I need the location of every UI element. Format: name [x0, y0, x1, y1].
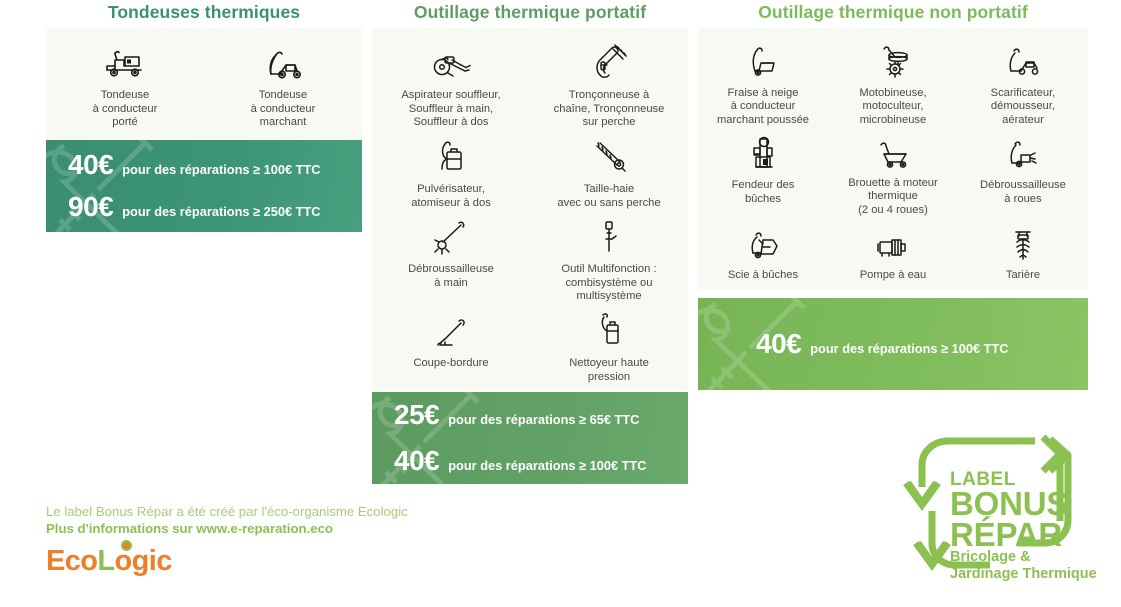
- hedge-trimmer-icon: [588, 131, 630, 177]
- leaf-blower-icon: [428, 37, 474, 83]
- list-item: Aspirateur souffleur, Souffleur à main, …: [372, 37, 530, 131]
- ecologic-logo-dot-icon: [121, 540, 132, 551]
- ecologic-logo-l: L: [97, 545, 114, 577]
- list-item-label: Pompe à eau: [860, 269, 927, 283]
- bonus-repar-logo: LABEL BONUS RÉPAR Bricolage & Jardinage …: [900, 425, 1100, 590]
- price-amount: 25€: [394, 401, 439, 429]
- walk-behind-mower-icon: [261, 37, 305, 83]
- list-item-label: Motobineuse, motoculteur, microbineuse: [859, 87, 926, 128]
- list-item-label: Scie à bûches: [728, 269, 798, 283]
- pressure-washer-icon: [592, 305, 626, 351]
- ecologic-logo-eco: Eco: [46, 545, 97, 577]
- auger-icon: [1008, 217, 1038, 263]
- list-item-label: Tronçonneuse à chaîne, Tronçonneuse sur …: [554, 89, 665, 130]
- list-item-label: Tondeuse à conducteur marchant: [251, 89, 316, 130]
- price-row: 40€ pour des réparations ≥ 100€ TTC: [68, 151, 362, 179]
- column-title-portatif: Outillage thermique portatif: [372, 2, 688, 23]
- panel-tondeuses: Tondeuse à conducteur porté: [46, 28, 362, 140]
- list-item: Outil Multifonction : combisystème ou mu…: [530, 211, 688, 305]
- multi-tool-icon: [595, 211, 623, 257]
- price-amount: 90€: [68, 193, 113, 221]
- price-banner-tondeuses: 40€ pour des réparations ≥ 100€ TTC 90€ …: [46, 140, 362, 232]
- price-condition: pour des réparations ≥ 100€ TTC: [448, 460, 646, 473]
- list-item-label: Fendeur des bûches: [732, 179, 795, 206]
- column-title-non-portatif: Outillage thermique non portatif: [698, 2, 1088, 23]
- list-item-label: Pulvérisateur, atomiseur à dos: [411, 183, 491, 210]
- bonus-logo-sub1: Bricolage &: [950, 549, 1031, 565]
- list-item-label: Tondeuse à conducteur porté: [93, 89, 158, 130]
- icon-grid-non-portatif: Fraise à neige à conducteur marchant pou…: [698, 28, 1088, 291]
- panel-non-portatif: Fraise à neige à conducteur marchant pou…: [698, 28, 1088, 290]
- list-item-label: Coupe-bordure: [413, 357, 488, 371]
- icon-grid-portatif: Aspirateur souffleur, Souffleur à main, …: [372, 28, 688, 385]
- panel-portatif: Aspirateur souffleur, Souffleur à main, …: [372, 28, 688, 390]
- list-item-label: Scarificateur, démousseur, aérateur: [991, 87, 1056, 128]
- price-rows: 40€ pour des réparations ≥ 100€ TTC 90€ …: [46, 140, 362, 232]
- list-item: Tarière: [958, 217, 1088, 291]
- footer-credit-line: Le label Bonus Répar a été créé par l'éc…: [46, 504, 408, 519]
- list-item: Motobineuse, motoculteur, microbineuse: [828, 37, 958, 127]
- price-amount: 40€: [68, 151, 113, 179]
- list-item: Débroussailleuse à roues: [958, 127, 1088, 217]
- list-item-label: Outil Multifonction : combisystème ou mu…: [561, 263, 656, 304]
- price-rows: 40€ pour des réparations ≥ 100€ TTC: [698, 298, 1088, 390]
- price-row: 90€ pour des réparations ≥ 250€ TTC: [68, 193, 362, 221]
- log-saw-icon: [743, 217, 783, 263]
- rotary-tiller-icon: [873, 37, 913, 81]
- list-item: Tondeuse à conducteur marchant: [204, 37, 362, 130]
- price-condition: pour des réparations ≥ 100€ TTC: [122, 164, 320, 177]
- price-banner-non-portatif: 40€ pour des réparations ≥ 100€ TTC: [698, 298, 1088, 390]
- list-item: Débroussailleuse à main: [372, 211, 530, 305]
- list-item: Fraise à neige à conducteur marchant pou…: [698, 37, 828, 127]
- price-banner-portatif: 25€ pour des réparations ≥ 65€ TTC 40€ p…: [372, 392, 688, 484]
- powered-wheelbarrow-icon: [872, 127, 914, 171]
- list-item-label: Taille-haie avec ou sans perche: [557, 183, 660, 210]
- list-item-label: Aspirateur souffleur, Souffleur à main, …: [401, 89, 500, 130]
- backpack-sprayer-icon: [431, 131, 471, 177]
- list-item: Fendeur des bûches: [698, 127, 828, 217]
- ecologic-logo: EcoLogic: [46, 547, 172, 576]
- price-amount: 40€: [394, 447, 439, 475]
- log-splitter-icon: [744, 127, 782, 173]
- list-item: Pulvérisateur, atomiseur à dos: [372, 131, 530, 211]
- list-item: Scarificateur, démousseur, aérateur: [958, 37, 1088, 127]
- price-condition: pour des réparations ≥ 250€ TTC: [122, 206, 320, 219]
- list-item: Brouette à moteur thermique (2 ou 4 roue…: [828, 127, 958, 217]
- list-item-label: Brouette à moteur thermique (2 ou 4 roue…: [848, 177, 938, 218]
- ride-on-mower-icon: [101, 37, 149, 83]
- list-item-label: Débroussailleuse à main: [408, 263, 494, 290]
- price-row: 25€ pour des réparations ≥ 65€ TTC: [394, 401, 688, 429]
- list-item-label: Fraise à neige à conducteur marchant pou…: [717, 87, 809, 128]
- handheld-brushcutter-icon: [431, 211, 471, 257]
- edge-trimmer-icon: [428, 305, 474, 351]
- list-item: Tronçonneuse à chaîne, Tronçonneuse sur …: [530, 37, 688, 131]
- list-item: Nettoyeur haute pression: [530, 305, 688, 385]
- list-item: Tondeuse à conducteur porté: [46, 37, 204, 130]
- water-pump-icon: [872, 217, 914, 263]
- list-item: Coupe-bordure: [372, 305, 530, 385]
- list-item-label: Débroussailleuse à roues: [980, 179, 1066, 206]
- list-item: Scie à bûches: [698, 217, 828, 291]
- infographic-page: Tondeuses thermiques: [0, 0, 1121, 607]
- scarifier-icon: [1001, 37, 1045, 81]
- column-title-tondeuses: Tondeuses thermiques: [46, 2, 362, 23]
- list-item: Taille-haie avec ou sans perche: [530, 131, 688, 211]
- footer-website-line[interactable]: Plus d'informations sur www.e-reparation…: [46, 521, 333, 536]
- snow-blower-icon: [744, 37, 782, 81]
- price-rows: 25€ pour des réparations ≥ 65€ TTC 40€ p…: [372, 392, 688, 484]
- price-condition: pour des réparations ≥ 100€ TTC: [810, 343, 1008, 356]
- list-item-label: Tarière: [1006, 269, 1040, 283]
- bonus-logo-sub2: Jardinage Thermique: [950, 566, 1097, 582]
- price-row: 40€ pour des réparations ≥ 100€ TTC: [756, 330, 1088, 358]
- chainsaw-icon: [588, 37, 630, 83]
- wheeled-brushcutter-icon: [1002, 127, 1044, 173]
- price-amount: 40€: [756, 330, 801, 358]
- price-row: 40€ pour des réparations ≥ 100€ TTC: [394, 447, 688, 475]
- price-condition: pour des réparations ≥ 65€ TTC: [448, 414, 639, 427]
- list-item-label: Nettoyeur haute pression: [569, 357, 649, 384]
- icon-grid-tondeuses: Tondeuse à conducteur porté: [46, 28, 362, 130]
- list-item: Pompe à eau: [828, 217, 958, 291]
